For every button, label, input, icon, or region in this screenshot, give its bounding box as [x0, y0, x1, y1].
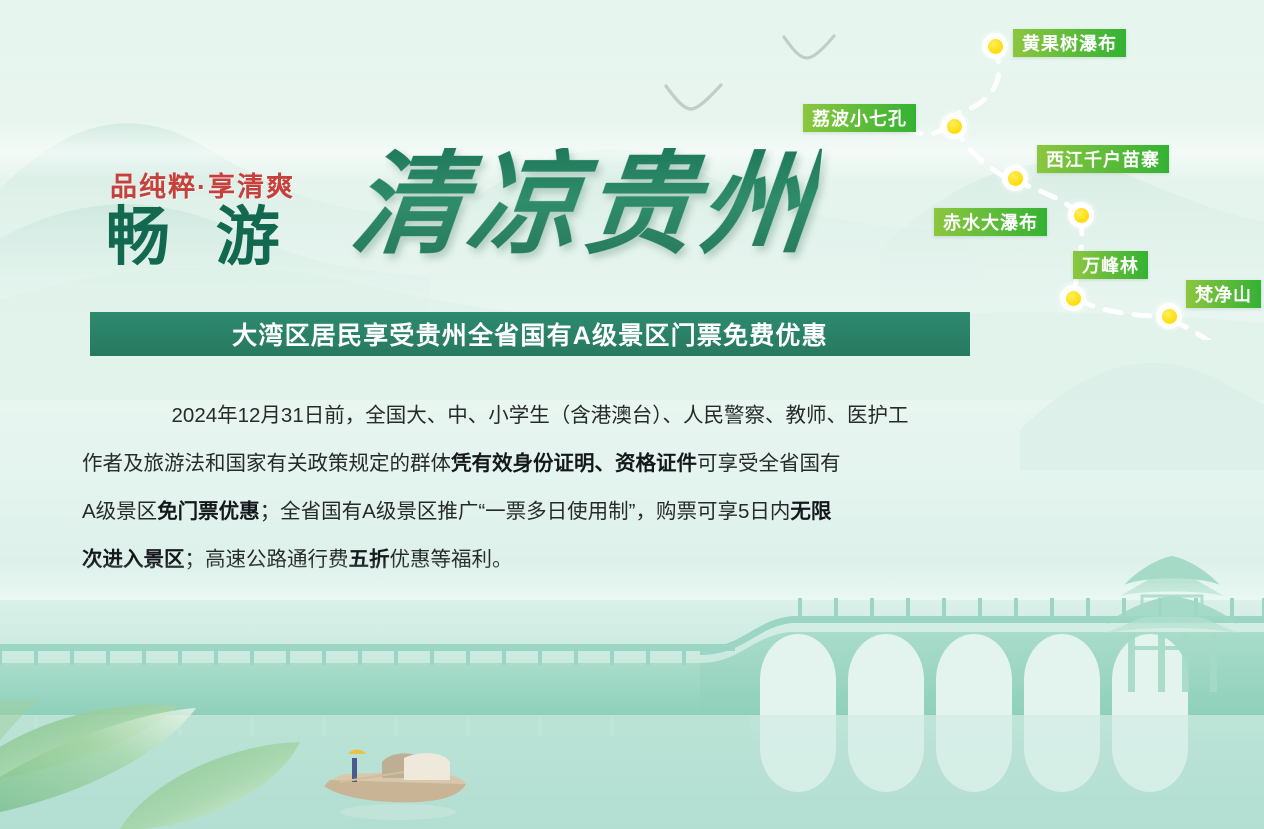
map-label-2[interactable]: 西江千户苗寨	[1037, 145, 1169, 173]
map-label-5[interactable]: 梵净山	[1186, 280, 1261, 308]
policy-description: 2024年12月31日前，全国大、中、小学生（含港澳台）、人民警察、教师、医护工…	[82, 392, 998, 584]
policy-highlight: 无限	[790, 500, 831, 523]
policy-highlight: 免门票优惠	[157, 500, 260, 523]
map-label-4[interactable]: 万峰林	[1073, 251, 1148, 279]
map-marker-3[interactable]	[1068, 202, 1094, 228]
map-marker-2[interactable]	[1002, 165, 1028, 191]
water-surface	[0, 600, 1264, 829]
policy-text: A级景区	[82, 500, 157, 523]
brand-title: 畅 游	[106, 205, 294, 269]
marker-dot-icon	[988, 39, 1003, 54]
policy-text: 可享受全省国有	[697, 452, 841, 475]
policy-text: 2024年12月31日前，全国大、中、小学生（含港澳台）、人民警察、教师、医护工	[172, 404, 909, 427]
map-label-1[interactable]: 荔波小七孔	[803, 104, 916, 132]
map-marker-1[interactable]	[941, 113, 967, 139]
map-marker-5[interactable]	[1156, 303, 1182, 329]
marker-dot-icon	[1074, 208, 1089, 223]
policy-line-1: 作者及旅游法和国家有关政策规定的群体凭有效身份证明、资格证件可享受全省国有	[82, 440, 998, 488]
policy-text: ；全省国有A级景区推广“一票多日使用制”，购票可享5日内	[260, 500, 791, 523]
policy-line-0: 2024年12月31日前，全国大、中、小学生（含港澳台）、人民警察、教师、医护工	[82, 392, 998, 440]
policy-text: 作者及旅游法和国家有关政策规定的群体	[82, 452, 451, 475]
headline-banner: 大湾区居民享受贵州全省国有A级景区门票免费优惠	[90, 312, 970, 356]
marker-dot-icon	[1066, 291, 1081, 306]
calligraphy-title: 清凉贵州	[346, 148, 822, 266]
map-marker-4[interactable]	[1060, 285, 1086, 311]
marker-dot-icon	[1008, 171, 1023, 186]
policy-line-2: A级景区免门票优惠；全省国有A级景区推广“一票多日使用制”，购票可享5日内无限	[82, 488, 998, 536]
marker-dot-icon	[1162, 309, 1177, 324]
promotional-poster: 黄果树瀑布 荔波小七孔 西江千户苗寨 赤水大瀑布 万峰林 梵净山 品纯粹·享清爽…	[0, 0, 1264, 829]
kicker-text: 品纯粹·享清爽	[110, 174, 295, 201]
map-label-0[interactable]: 黄果树瀑布	[1013, 29, 1126, 57]
map-marker-0[interactable]	[982, 33, 1008, 59]
policy-highlight: 凭有效身份证明、资格证件	[451, 452, 697, 475]
map-label-3[interactable]: 赤水大瀑布	[934, 208, 1047, 236]
marker-dot-icon	[947, 119, 962, 134]
headline-banner-text: 大湾区居民享受贵州全省国有A级景区门票免费优惠	[232, 316, 828, 352]
